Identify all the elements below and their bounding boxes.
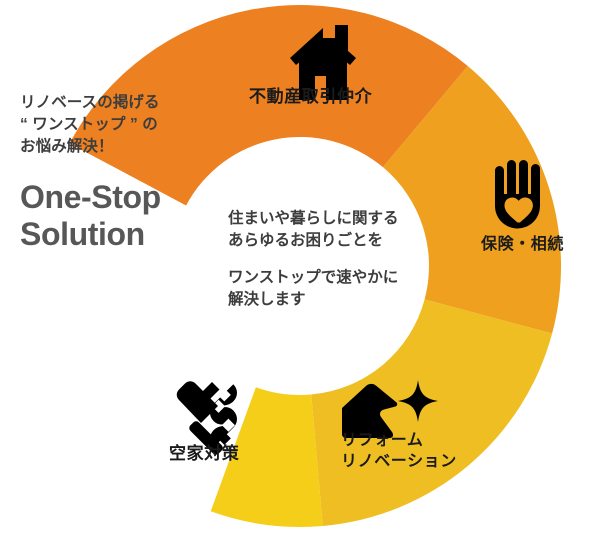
center-text-block: 住まいや暮らしに関する あらゆるお困りごとを ワンストップで速やかに 解決します — [228, 208, 458, 312]
segment-label-insurance: 保険・相続 — [481, 234, 564, 255]
headline-line-2: Solution — [20, 216, 210, 253]
center-para-1-line-1: 住まいや暮らしに関する — [228, 208, 458, 230]
center-para-1-line-2: あらゆるお困りごとを — [228, 230, 458, 252]
center-para-2-line-1: ワンストップで速やかに — [228, 267, 458, 289]
segment-label-reform-line-1: リフォーム — [341, 430, 457, 451]
left-text-block: リノベースの掲げる “ ワンストップ ” の お悩み解決！ One-Stop S… — [20, 92, 210, 254]
lead-line-3: お悩み解決！ — [20, 136, 210, 158]
segment-label-reform-line-2: リノベーション — [341, 451, 457, 472]
segment-label-reform: リフォーム リノベーション — [341, 430, 457, 472]
center-paragraph-2: ワンストップで速やかに 解決します — [228, 267, 458, 312]
lead-line-2: “ ワンストップ ” の — [20, 114, 210, 136]
center-paragraph-1: 住まいや暮らしに関する あらゆるお困りごとを — [228, 208, 458, 253]
segment-label-realestate: 不動産取引仲介 — [249, 86, 372, 108]
headline-line-1: One-Stop — [20, 179, 210, 216]
infographic-canvas: リノベースの掲げる “ ワンストップ ” の お悩み解決！ One-Stop S… — [0, 0, 600, 533]
segment-label-vacant: 空家対策 — [169, 443, 239, 465]
lead-line-1: リノベースの掲げる — [20, 92, 210, 114]
page-title: One-Stop Solution — [20, 179, 210, 254]
center-para-2-line-2: 解決します — [228, 289, 458, 311]
